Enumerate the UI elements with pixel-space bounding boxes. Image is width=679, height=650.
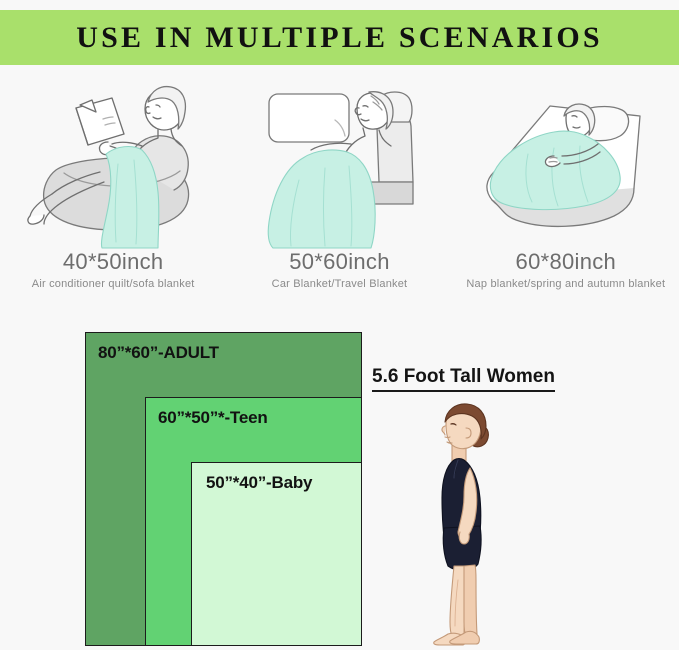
scenario-description: Air conditioner quilt/sofa blanket	[32, 278, 195, 290]
page-title: USE IN MULTIPLE SCENARIOS	[76, 21, 603, 55]
scenarios-row: 40*50inch Air conditioner quilt/sofa bla…	[0, 72, 679, 302]
scenario-item: 40*50inch Air conditioner quilt/sofa bla…	[0, 72, 226, 302]
size-box-baby-label: 50”*40”-Baby	[206, 473, 312, 493]
scenario-size-label: 60*80inch	[516, 249, 617, 275]
scale-reference-section: 5.6 Foot Tall Women	[372, 366, 602, 650]
scenario-description: Car Blanket/Travel Blanket	[272, 278, 408, 290]
size-box-baby: 50”*40”-Baby	[191, 462, 362, 646]
size-box-teen-label: 60”*50”*-Teen	[158, 408, 268, 428]
header-banner: USE IN MULTIPLE SCENARIOS	[0, 10, 679, 65]
scenario-item: 50*60inch Car Blanket/Travel Blanket	[226, 72, 452, 302]
standing-woman-profile-icon	[402, 400, 522, 646]
scenario-size-label: 40*50inch	[63, 249, 164, 275]
infographic-page: USE IN MULTIPLE SCENARIOS	[0, 0, 679, 650]
scenario-item: 60*80inch Nap blanket/spring and autumn …	[453, 72, 679, 302]
scenario-description: Nap blanket/spring and autumn blanket	[466, 278, 665, 290]
size-comparison-chart: 80”*60”-ADULT 60”*50”*-Teen 50”*40”-Baby	[85, 332, 362, 646]
person-reclining-car-seat-icon	[239, 72, 439, 247]
scenario-size-label: 50*60inch	[289, 249, 390, 275]
scale-reference-title: 5.6 Foot Tall Women	[372, 366, 555, 392]
person-reading-beanbag-icon	[8, 72, 218, 247]
size-box-adult-label: 80”*60”-ADULT	[98, 343, 219, 363]
person-sleeping-bed-icon	[458, 72, 673, 247]
